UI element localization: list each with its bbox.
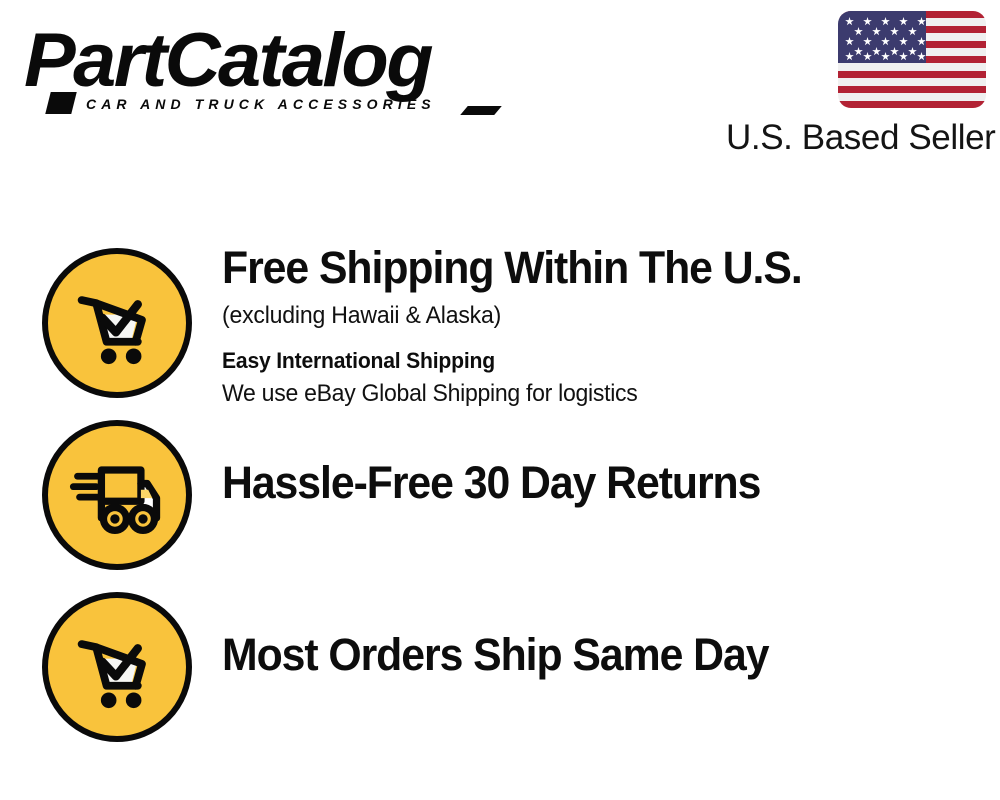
feature-heading: Most Orders Ship Same Day	[222, 628, 942, 682]
brand-logo[interactable]: PartCatalog CAR AND TRUCK ACCESSORIES	[24, 22, 494, 114]
us-flag-icon	[838, 11, 986, 108]
logo-right-slash-decoration	[460, 106, 502, 115]
flag-stripe	[838, 71, 986, 78]
feature-row: Most Orders Ship Same Day	[0, 587, 1000, 759]
delivery-truck-icon	[42, 420, 192, 570]
us-based-seller-label: U.S. Based Seller	[726, 118, 986, 158]
feature-text-block: Most Orders Ship Same Day	[222, 628, 980, 682]
brand-wordmark: PartCatalog	[24, 22, 431, 100]
feature-list: Free Shipping Within The U.S. (excluding…	[0, 175, 1000, 800]
shopping-cart-check-icon	[42, 248, 192, 398]
feature-note: (excluding Hawaii & Alaska)	[222, 299, 950, 333]
flag-canton	[838, 11, 926, 63]
feature-text-block: Hassle-Free 30 Day Returns	[222, 456, 980, 510]
shopping-cart-check-icon	[42, 592, 192, 742]
brand-tagline: CAR AND TRUCK ACCESSORIES	[86, 96, 436, 112]
page-header: PartCatalog CAR AND TRUCK ACCESSORIES	[0, 0, 1000, 175]
feature-subheading: Easy International Shipping	[222, 346, 950, 376]
feature-row: Free Shipping Within The U.S. (excluding…	[0, 241, 1000, 416]
flag-stripe	[838, 86, 986, 93]
feature-text-block: Free Shipping Within The U.S. (excluding…	[222, 241, 980, 410]
feature-row: Hassle-Free 30 Day Returns	[0, 415, 1000, 587]
flag-stripe	[838, 101, 986, 108]
feature-heading: Hassle-Free 30 Day Returns	[222, 456, 942, 510]
feature-subnote: We use eBay Global Shipping for logistic…	[222, 378, 950, 410]
feature-heading: Free Shipping Within The U.S.	[222, 241, 942, 295]
